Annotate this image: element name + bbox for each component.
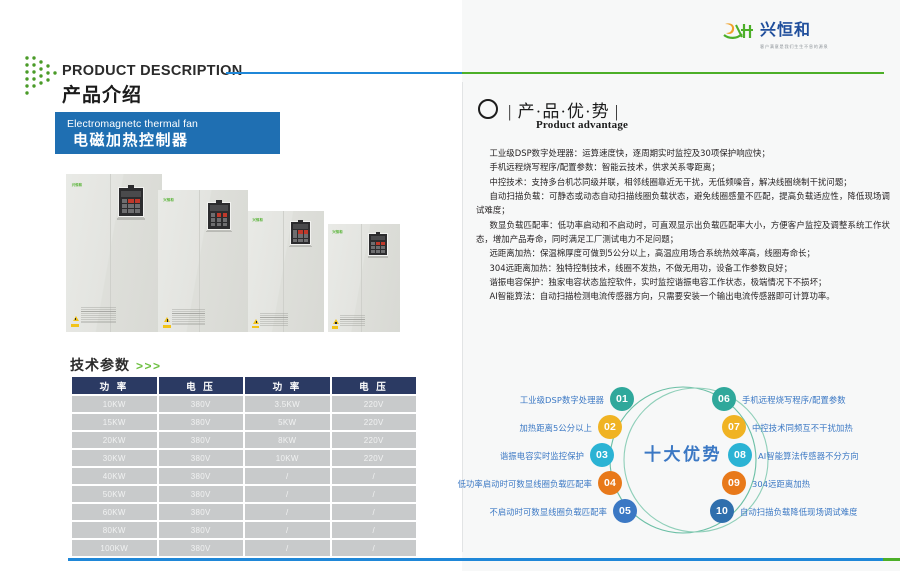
warning-triangle-icon — [333, 319, 339, 324]
spec-heading-arrows-icon: >>> — [136, 359, 162, 373]
table-cell: 3.5KW — [245, 396, 330, 412]
panel-base — [117, 218, 145, 220]
key-red — [223, 213, 228, 217]
diagram-label-08: AI智能算法传感器不分方向 — [758, 450, 859, 462]
panel-nub — [376, 232, 380, 235]
key — [293, 234, 297, 237]
header-rule-green — [462, 72, 884, 74]
table-cell: 10KW — [72, 396, 157, 412]
header-rule-blue — [226, 72, 462, 74]
warning-sticker — [71, 324, 80, 327]
panel-keypad — [371, 242, 385, 253]
key-red — [298, 230, 302, 233]
advantage-item-5: 数显负载匹配率：低功率启动和不启动时，可直观显示出负载匹配率大小，方便客户监控及… — [476, 218, 890, 247]
spec-heading-label: 技术参数 — [70, 355, 130, 375]
diagram-node-10: 10 — [710, 499, 734, 523]
key-red — [128, 199, 133, 203]
warning-triangle-icon — [73, 316, 79, 321]
table-cell: / — [245, 486, 330, 502]
spec-table: 功 率 电 压 功 率 电 压 10KW380V3.5KW220V15KW380… — [70, 375, 418, 558]
warning-triangle-icon — [164, 317, 170, 322]
spec-heading: 技术参数 >>> — [70, 355, 162, 375]
key — [376, 246, 380, 249]
spec-sticker — [81, 307, 116, 324]
diagram-node-06: 06 — [712, 387, 736, 411]
diagram-node-01: 01 — [610, 387, 634, 411]
advantage-item-7: 304远距离加热：独特控制技术，线圈不发热，不做无用功，设备工作参数良好； — [476, 261, 890, 275]
table-row: 50KW380V// — [72, 486, 416, 502]
table-cell: 8KW — [245, 432, 330, 448]
panel-display — [371, 236, 385, 241]
table-cell: 220V — [332, 450, 417, 466]
table-row: 60KW380V// — [72, 504, 416, 520]
table-cell: 380V — [159, 504, 244, 520]
diagram-label-05: 不启动时可数显线圈负载匹配率 — [489, 506, 607, 518]
key — [381, 246, 385, 249]
panel-base — [368, 256, 389, 257]
green-dot-triangle-icon — [24, 55, 58, 99]
spec-sticker — [172, 309, 204, 325]
key — [371, 242, 375, 245]
table-cell: / — [245, 522, 330, 538]
footer-rule — [68, 558, 900, 561]
table-cell: / — [332, 468, 417, 484]
table-cell: 40KW — [72, 468, 157, 484]
table-cell: 100KW — [72, 540, 157, 556]
product-name-en: Electromagnetc thermal fan — [67, 117, 280, 131]
advantage-item-4: 自动扫描负载：可静态或动态自动扫描线圈负载状态，避免线圈感量不匹配，提高负载适应… — [476, 189, 890, 218]
table-cell: 30KW — [72, 450, 157, 466]
control-panel — [290, 221, 311, 245]
page-title-cn: 产品介绍 — [62, 80, 142, 107]
warning-sticker — [163, 325, 171, 328]
table-row: 40KW380V// — [72, 468, 416, 484]
table-cell: / — [332, 522, 417, 538]
table-cell: 15KW — [72, 414, 157, 430]
logo-tagline: 客户满意是我们生生不息的源泉 — [760, 44, 882, 50]
key — [211, 218, 216, 222]
key — [371, 250, 375, 253]
logo-company-name: 兴恒和 — [760, 21, 811, 41]
key — [122, 209, 127, 213]
product-name-cn: 电磁加热控制器 — [67, 131, 280, 151]
ten-advantages-diagram: 十大优势 01工业级DSP数字处理器02加热距离5公分以上03谐振电容实时监控保… — [470, 382, 900, 544]
panel-nub — [216, 200, 221, 203]
diagram-label-07: 中控技术同频互不干扰加热 — [752, 422, 853, 434]
panel-base — [206, 231, 232, 233]
table-cell: 380V — [159, 540, 244, 556]
table-cell: 380V — [159, 468, 244, 484]
warning-sticker — [252, 326, 259, 329]
panel-display — [210, 205, 228, 211]
table-col-power-1: 功 率 — [72, 377, 157, 394]
diagram-label-01: 工业级DSP数字处理器 — [520, 394, 604, 406]
key — [223, 218, 228, 222]
key — [217, 218, 222, 222]
table-row: 15KW380V5KW220V — [72, 414, 416, 430]
unit-brand-label: 兴恒和 — [253, 217, 264, 222]
slide-page: 兴恒和 客户满意是我们生生不息的源泉 PRODUCT DESCRIPTION 产… — [0, 0, 900, 571]
company-logo: 兴恒和 客户满意是我们生生不息的源泉 — [722, 20, 882, 52]
key — [371, 246, 375, 249]
table-cell: 220V — [332, 432, 417, 448]
key — [122, 204, 127, 208]
table-cell: 50KW — [72, 486, 157, 502]
advantage-item-3: 中控技术：支持多台机芯同级并联，相邻线圈靠近无干扰，无低频噪音，解决线圈绕制干扰… — [476, 175, 890, 189]
panel-display — [293, 224, 308, 229]
table-header-row: 功 率 电 压 功 率 电 压 — [72, 377, 416, 394]
diagram-label-10: 自动扫描负载降低现场调试难度 — [740, 506, 858, 518]
footer-rule-blue — [68, 558, 883, 561]
table-cell: 380V — [159, 396, 244, 412]
open-circle-icon — [478, 99, 498, 119]
key — [211, 223, 216, 227]
table-cell: 10KW — [245, 450, 330, 466]
key — [298, 239, 302, 242]
key — [135, 204, 140, 208]
advantage-item-1: 工业级DSP数字处理器：运算速度快，逐周期实时监控及30项保护响应快； — [476, 146, 890, 160]
leaf-yh-monogram-icon — [722, 21, 756, 42]
diagram-label-02: 加热距离5公分以上 — [519, 422, 592, 434]
panel-nub — [128, 185, 134, 188]
table-cell: 380V — [159, 450, 244, 466]
table-cell: / — [245, 504, 330, 520]
diagram-node-02: 02 — [598, 415, 622, 439]
cabinet-4-smallest: 兴恒和 — [328, 224, 400, 332]
warning-sticker — [332, 326, 338, 328]
advantage-item-8: 谐振电容保护：独家电容状态监控软件，实时监控谐振电容工作状态，极端情况下不损坏； — [476, 275, 890, 289]
key — [304, 234, 308, 237]
table-row: 20KW380V8KW220V — [72, 432, 416, 448]
diagram-label-04: 低功率启动时可数显线圈负载匹配率 — [458, 478, 592, 490]
table-cell: 380V — [159, 414, 244, 430]
panel-keypad — [122, 199, 140, 214]
key — [128, 204, 133, 208]
table-row: 80KW380V// — [72, 522, 416, 538]
key — [211, 213, 216, 217]
footer-rule-green — [883, 558, 900, 561]
spec-sticker — [260, 313, 287, 326]
panel-nub — [298, 220, 303, 223]
key — [304, 239, 308, 242]
key — [122, 199, 127, 203]
table-cell: 220V — [332, 396, 417, 412]
table-row: 10KW380V3.5KW220V — [72, 396, 416, 412]
cabinet-3: 兴恒和 — [248, 211, 324, 332]
key — [376, 250, 380, 253]
key — [217, 223, 222, 227]
table-col-voltage-1: 电 压 — [159, 377, 244, 394]
table-cell: 220V — [332, 414, 417, 430]
diagram-node-07: 07 — [722, 415, 746, 439]
panel-display — [121, 191, 140, 197]
unit-brand-label: 兴恒和 — [163, 197, 174, 202]
diagram-node-09: 09 — [722, 471, 746, 495]
unit-brand-label: 兴恒和 — [332, 229, 343, 234]
table-cell: / — [332, 486, 417, 502]
key — [381, 250, 385, 253]
table-cell: 80KW — [72, 522, 157, 538]
advantage-item-6: 远距离加热：保温棉厚度可做到5公分以上，高温应用场合系统热效率高，线圈寿命长； — [476, 246, 890, 260]
diagram-node-04: 04 — [598, 471, 622, 495]
table-cell: 5KW — [245, 414, 330, 430]
page-title-en: PRODUCT DESCRIPTION — [62, 63, 243, 79]
cabinet-1-largest: 兴恒和 — [66, 174, 162, 332]
panel-keypad — [211, 213, 228, 227]
unit-brand-label: 兴恒和 — [72, 182, 83, 187]
advantage-item-2: 手机远程烧写程序/配置参数：智能云技术，供求关系零距离； — [476, 160, 890, 174]
diagram-label-09: 304远距离加热 — [752, 478, 810, 490]
table-cell: / — [245, 540, 330, 556]
table-cell: / — [332, 504, 417, 520]
table-cell: 380V — [159, 432, 244, 448]
table-cell: 380V — [159, 486, 244, 502]
key — [293, 239, 297, 242]
advantage-item-9: AI智能算法：自动扫描检测电流传感器方向，只需要安装一个输出电流传感器即可计算功… — [476, 289, 890, 303]
product-name-block: Electromagnetc thermal fan 电磁加热控制器 — [55, 112, 280, 154]
diagram-node-05: 05 — [613, 499, 637, 523]
key — [135, 209, 140, 213]
advantage-title-en: Product advantage — [536, 119, 628, 131]
key-red — [217, 213, 222, 217]
table-col-voltage-2: 电 压 — [332, 377, 417, 394]
table-cell: 60KW — [72, 504, 157, 520]
key — [223, 223, 228, 227]
key — [128, 209, 133, 213]
table-row: 30KW380V10KW220V — [72, 450, 416, 466]
table-cell: / — [245, 468, 330, 484]
table-cell: 20KW — [72, 432, 157, 448]
key-red — [376, 242, 380, 245]
diagram-node-08: 08 — [728, 443, 752, 467]
key — [298, 234, 302, 237]
key-red — [135, 199, 140, 203]
control-panel — [118, 187, 144, 217]
advantage-paragraphs: 工业级DSP数字处理器：运算速度快，逐周期实时监控及30项保护响应快；手机远程烧… — [476, 146, 890, 304]
key-red — [304, 230, 308, 233]
spec-sticker — [340, 315, 366, 327]
header-rule — [226, 72, 900, 74]
product-photo-group: 兴恒和 兴恒和 — [66, 172, 426, 332]
cabinet-2: 兴恒和 — [158, 190, 248, 332]
table-cell: / — [332, 540, 417, 556]
diagram-label-06: 手机远程烧写程序/配置参数 — [742, 394, 846, 406]
key-red — [381, 242, 385, 245]
warning-triangle-icon — [253, 319, 259, 324]
table-col-power-2: 功 率 — [245, 377, 330, 394]
panel-base — [289, 246, 311, 247]
control-panel — [207, 202, 231, 230]
diagram-label-03: 谐振电容实时监控保护 — [500, 450, 584, 462]
control-panel — [368, 233, 388, 256]
table-row: 100KW380V// — [72, 540, 416, 556]
diagram-node-03: 03 — [590, 443, 614, 467]
table-cell: 380V — [159, 522, 244, 538]
panel-keypad — [293, 230, 307, 241]
key — [293, 230, 297, 233]
